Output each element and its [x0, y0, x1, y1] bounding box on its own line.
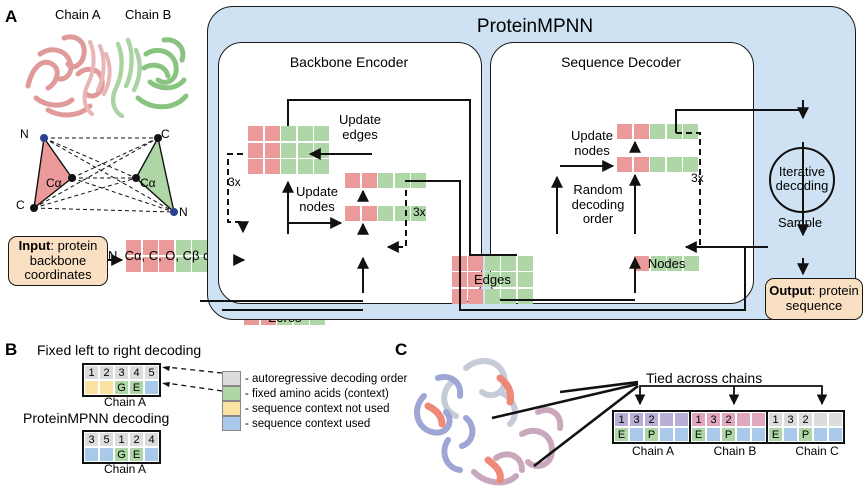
- sequence-decoder-title: Sequence Decoder: [490, 54, 752, 70]
- encoder-updated-edges-matrix: [248, 126, 329, 174]
- chain-1-cell: 1: [691, 412, 706, 427]
- chain-0-cell: E: [614, 427, 629, 442]
- update-nodes-label: Update nodes: [285, 185, 349, 214]
- panel-c-chain-grids: 132EP132EP132EP: [612, 410, 845, 444]
- chain-block-1: 132EP: [691, 412, 766, 442]
- protein-dimer-cartoon: [18, 24, 208, 124]
- legend-swatch-green: [222, 386, 241, 401]
- chain-2-cell: [783, 427, 798, 442]
- mpnn-seq-row: GE: [84, 447, 159, 462]
- legend-swatch-blue: [222, 416, 241, 431]
- chain-1-cell: [751, 427, 766, 442]
- chain-1-cell: P: [721, 427, 736, 442]
- tied-chains-grid: 132EP132EP132EP: [612, 410, 845, 444]
- fixed-seq-cell: [144, 380, 159, 395]
- mpnn-order-cell: 1: [114, 432, 129, 447]
- chain-0-cell: [674, 427, 689, 442]
- chain-name-0: Chain A: [612, 444, 694, 458]
- chain-2-cell: [813, 427, 828, 442]
- fixed-order-row: 12345: [84, 365, 159, 380]
- decoder-update-nodes-label: Update nodes: [560, 129, 624, 158]
- encoder-repeat-left: 3x: [228, 176, 241, 189]
- chain-0-cell: [629, 427, 644, 442]
- chain-1-cell: [751, 412, 766, 427]
- mpnn-order-row: 35124: [84, 432, 159, 447]
- chain-1-cell: 2: [721, 412, 736, 427]
- fixed-seq-cell: [84, 380, 99, 395]
- mpnn-seq-cell: E: [129, 447, 144, 462]
- atom-label-ca-left: Cα: [46, 177, 62, 190]
- output-box: Output: protein sequence: [765, 278, 863, 320]
- fixed-order-cell: 2: [99, 365, 114, 380]
- legend-swatch-grey: [222, 371, 241, 386]
- chain-0-cell: [659, 427, 674, 442]
- legend-swatch-yellow: [222, 401, 241, 416]
- chain-2-row-1: EP: [768, 427, 843, 442]
- panel-c-chain-names: Chain AChain BChain C: [612, 444, 862, 458]
- fixed-seq-row: GE: [84, 380, 159, 395]
- mpnn-seq-cell: G: [114, 447, 129, 462]
- decoder-nodes-vector-mid: [617, 157, 698, 172]
- mpnn-seq-cell: [84, 447, 99, 462]
- legend-item-2: - sequence context not used: [222, 401, 407, 416]
- fixed-seq-cell: [99, 380, 114, 395]
- fixed-order-cell: 3: [114, 365, 129, 380]
- chain-name-2: Chain C: [776, 444, 858, 458]
- iterative-decoding-label: Iterative decoding: [771, 165, 833, 194]
- chain-1-cell: 3: [706, 412, 721, 427]
- encoder-nodes-vector-top: [345, 173, 426, 188]
- chain-a-label: Chain A: [55, 8, 101, 23]
- chain-1-cell: [736, 427, 751, 442]
- mpnn-order-cell: 2: [129, 432, 144, 447]
- chain-2-cell: [828, 412, 843, 427]
- chain-2-cell: 1: [768, 412, 783, 427]
- mpnn-seq-cell: [99, 447, 114, 462]
- chain-block-2: 132EP: [768, 412, 843, 442]
- chain-2-cell: E: [768, 427, 783, 442]
- decoder-repeat: 3x: [691, 172, 704, 185]
- atom-label-c-left: C: [16, 199, 25, 212]
- chain-1-cell: [736, 412, 751, 427]
- panel-b-title-fixed: Fixed left to right decoding: [37, 342, 201, 358]
- panel-b-letter: B: [5, 341, 17, 358]
- fixed-seq-cell: G: [114, 380, 129, 395]
- mpnn-order-cell: 4: [144, 432, 159, 447]
- fixed-order-cell: 1: [84, 365, 99, 380]
- encoder-edges-matrix: Edges: [452, 256, 533, 304]
- chain-block-0: 132EP: [614, 412, 689, 442]
- atom-label-ca-right: Cα: [140, 177, 156, 190]
- chain-0-row-1: EP: [614, 427, 689, 442]
- chain-2-cell: [813, 412, 828, 427]
- legend-text-0: - autoregressive decoding order: [245, 373, 407, 385]
- legend-item-1: - fixed amino acids (context): [222, 386, 407, 401]
- chain-1-row-0: 132: [691, 412, 766, 427]
- tied-bracket-arrows: [610, 382, 858, 410]
- chain-2-cell: [828, 427, 843, 442]
- chain-2-cell: 2: [798, 412, 813, 427]
- chain-0-cell: [659, 412, 674, 427]
- atom-label-n-left: N: [20, 128, 29, 141]
- chain-1-row-1: EP: [691, 427, 766, 442]
- mpnn-order-cell: 3: [84, 432, 99, 447]
- chain-0-cell: P: [644, 427, 659, 442]
- chain-2-row-0: 132: [768, 412, 843, 427]
- input-box-bold: Input: [19, 238, 51, 253]
- input-box: Input: protein backbone coordinates: [8, 236, 108, 286]
- chain-b-label: Chain B: [125, 8, 171, 23]
- fixed-order-cell: 5: [144, 365, 159, 380]
- sample-label: Sample: [778, 216, 822, 231]
- legend-item-3: - sequence context used: [222, 416, 407, 431]
- panel-b-legend: - autoregressive decoding order- fixed a…: [222, 371, 407, 431]
- chain-0-cell: [674, 412, 689, 427]
- encoder-nodes-vector-base: Nodes: [634, 256, 699, 271]
- chain-1-cell: [706, 427, 721, 442]
- encoder-repeat-right: 3x: [413, 206, 426, 219]
- chain-2-cell: 3: [783, 412, 798, 427]
- legend-text-1: - fixed amino acids (context): [245, 388, 389, 400]
- decoder-random-order-label: Random decoding order: [565, 183, 631, 227]
- proteinmpnn-title: ProteinMPNN: [420, 16, 650, 38]
- panel-a-letter: A: [5, 8, 17, 25]
- panel-b-title-mpnn: ProteinMPNN decoding: [23, 410, 169, 426]
- atom-label-c-right: C: [161, 128, 170, 141]
- chain-name-1: Chain B: [694, 444, 776, 458]
- panel-b-leader-lines: [160, 363, 224, 403]
- update-edges-label: Update edges: [322, 113, 398, 142]
- fixed-seq-cell: E: [129, 380, 144, 395]
- backbone-encoder-title: Backbone Encoder: [218, 54, 480, 70]
- mpnn-order-cell: 5: [99, 432, 114, 447]
- output-box-bold: Output: [769, 283, 812, 298]
- chain-1-cell: E: [691, 427, 706, 442]
- legend-text-3: - sequence context used: [245, 418, 370, 430]
- chain-0-cell: 3: [629, 412, 644, 427]
- chain-0-cell: 1: [614, 412, 629, 427]
- chain-0-row-0: 132: [614, 412, 689, 427]
- chain-0-cell: 2: [644, 412, 659, 427]
- legend-text-2: - sequence context not used: [245, 403, 390, 415]
- chain-2-cell: P: [798, 427, 813, 442]
- fixed-order-cell: 4: [129, 365, 144, 380]
- legend-item-0: - autoregressive decoding order: [222, 371, 407, 386]
- mpnn-seq-cell: [144, 447, 159, 462]
- atom-label-n-right: N: [179, 206, 188, 219]
- decoder-nodes-vector-top: [617, 124, 698, 139]
- mpnn-chain-label: Chain A: [72, 463, 178, 476]
